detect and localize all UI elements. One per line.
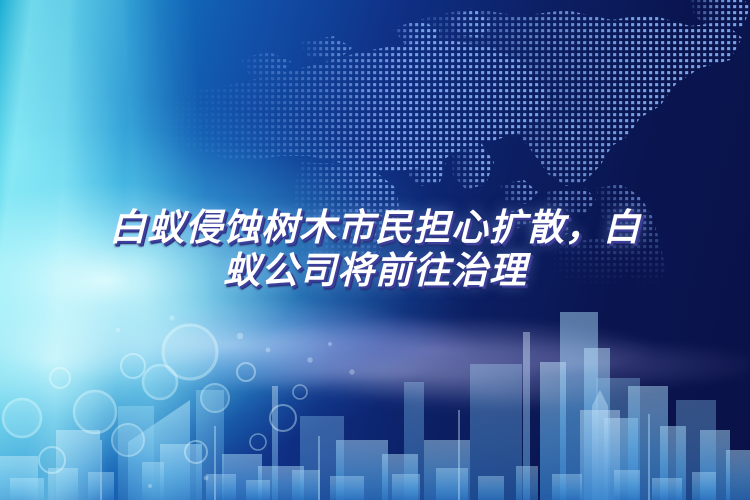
banner-image: 白蚁侵蚀树木市民担心扩散，白 蚁公司将前往治理 <box>0 0 750 500</box>
city-skyline-icon <box>0 290 750 500</box>
world-map-icon <box>0 0 750 286</box>
